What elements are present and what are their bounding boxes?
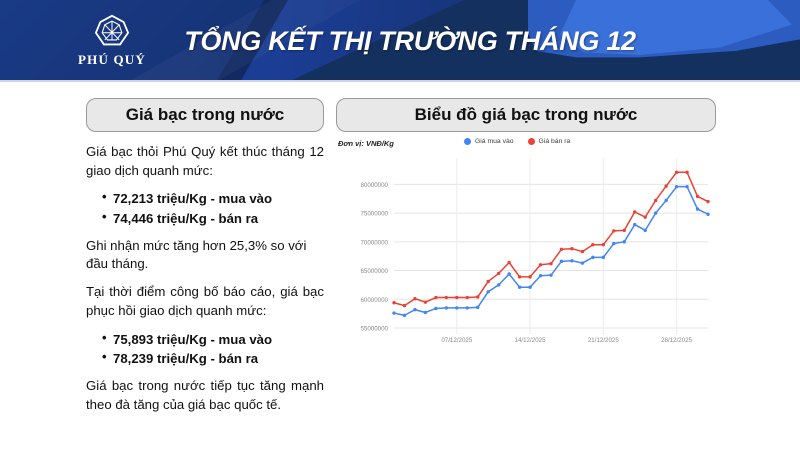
data-point (581, 261, 584, 264)
data-point (507, 272, 510, 275)
left-summary-panel: Giá bạc trong nước Giá bạc thỏi Phú Quý … (86, 98, 324, 423)
data-point (685, 185, 688, 188)
ytick-label: 60000000 (360, 297, 388, 304)
chart-legend: Giá mua vào Giá bán ra (464, 138, 570, 145)
list-item: 75,893 triệu/Kg - mua vào (102, 330, 324, 349)
data-point (518, 286, 521, 289)
left-panel-heading: Giá bạc trong nước (86, 98, 324, 132)
brand-logo: PHÚ QUÝ (58, 10, 166, 72)
legend-swatch-buy-icon (464, 138, 471, 145)
legend-label-sell: Giá bán ra (539, 138, 571, 145)
data-point (612, 229, 615, 232)
data-point (476, 306, 479, 309)
data-point (539, 274, 542, 277)
data-point (675, 171, 678, 174)
xtick-label: 07/12/2025 (441, 337, 473, 344)
data-point (497, 272, 500, 275)
data-point (623, 240, 626, 243)
data-point (581, 250, 584, 253)
data-point (539, 263, 542, 266)
header-banner: PHÚ QUÝ TỔNG KẾT THỊ TRƯỜNG THÁNG 12 (0, 0, 800, 82)
data-point (654, 211, 657, 214)
data-point (434, 307, 437, 310)
chart-xtick-labels: 07/12/202514/12/202521/12/202528/12/2025 (441, 337, 692, 344)
data-point (413, 297, 416, 300)
phu-quy-diamond-logo-icon (94, 14, 130, 48)
data-point (623, 229, 626, 232)
data-point (392, 311, 395, 314)
data-point (644, 215, 647, 218)
data-point (466, 296, 469, 299)
chart-plot-area: 5500000060000000650000007000000075000000… (336, 156, 716, 356)
data-point (403, 314, 406, 317)
bullet-list-report-prices: 75,893 triệu/Kg - mua vào 78,239 triệu/K… (86, 330, 324, 368)
ytick-label: 70000000 (360, 239, 388, 246)
data-point (675, 185, 678, 188)
legend-item-buy[interactable]: Giá mua vào (464, 138, 514, 145)
data-point (507, 261, 510, 264)
data-point (403, 304, 406, 307)
data-point (664, 184, 667, 187)
data-point (455, 306, 458, 309)
data-point (685, 171, 688, 174)
legend-label-buy: Giá mua vào (475, 138, 514, 145)
list-item: 72,213 triệu/Kg - mua vào (102, 189, 324, 208)
chart-panel-heading: Biểu đồ giá bạc trong nước (336, 98, 716, 132)
list-item: 74,446 triệu/Kg - bán ra (102, 209, 324, 228)
slide-root: PHÚ QUÝ TỔNG KẾT THỊ TRƯỜNG THÁNG 12 Giá… (0, 0, 800, 450)
data-point (487, 290, 490, 293)
bullet-list-closing-prices: 72,213 triệu/Kg - mua vào 74,446 triệu/K… (86, 189, 324, 227)
line-chart-svg: 5500000060000000650000007000000075000000… (336, 156, 716, 356)
data-point (591, 256, 594, 259)
chart-ytick-labels: 5500000060000000650000007000000075000000… (360, 182, 388, 333)
data-point (549, 273, 552, 276)
data-point (654, 199, 657, 202)
ytick-label: 75000000 (360, 211, 388, 218)
left-panel-body: Giá bạc thỏi Phú Quý kết thúc tháng 12 g… (86, 143, 324, 414)
data-point (591, 243, 594, 246)
series-line-sell (392, 171, 709, 308)
data-point (602, 256, 605, 259)
paragraph-4: Giá bạc trong nước tiếp tục tăng mạnh th… (86, 377, 324, 414)
data-point (466, 306, 469, 309)
list-item: 78,239 triệu/Kg - bán ra (102, 349, 324, 368)
data-point (633, 210, 636, 213)
ytick-label: 65000000 (360, 268, 388, 275)
legend-swatch-sell-icon (528, 138, 535, 145)
paragraph-1: Giá bạc thỏi Phú Quý kết thúc tháng 12 g… (86, 143, 324, 180)
data-point (644, 229, 647, 232)
data-point (706, 200, 709, 203)
chart-unit-label: Đơn vị: VNĐ/Kg (338, 139, 394, 148)
data-point (612, 242, 615, 245)
data-point (455, 296, 458, 299)
data-point (602, 243, 605, 246)
data-point (392, 301, 395, 304)
data-point (497, 283, 500, 286)
brand-name: PHÚ QUÝ (78, 52, 146, 68)
data-point (445, 306, 448, 309)
data-point (528, 286, 531, 289)
data-point (560, 248, 563, 251)
page-title: TỔNG KẾT THỊ TRƯỜNG THÁNG 12 (175, 0, 645, 82)
ytick-label: 55000000 (360, 326, 388, 333)
data-point (706, 213, 709, 216)
xtick-label: 28/12/2025 (661, 337, 693, 344)
data-point (476, 295, 479, 298)
data-point (518, 275, 521, 278)
data-point (570, 247, 573, 250)
paragraph-2: Ghi nhận mức tăng hơn 25,3% so với đầu t… (86, 237, 324, 274)
data-point (570, 259, 573, 262)
data-point (549, 262, 552, 265)
data-point (696, 207, 699, 210)
chart-panel: Biểu đồ giá bạc trong nước Đơn vị: VNĐ/K… (336, 98, 716, 356)
data-point (434, 296, 437, 299)
data-point (633, 223, 636, 226)
legend-item-sell[interactable]: Giá bán ra (528, 138, 571, 145)
data-point (424, 300, 427, 303)
xtick-label: 14/12/2025 (515, 337, 547, 344)
data-point (664, 199, 667, 202)
paragraph-3: Tại thời điểm công bố báo cáo, giá bạc p… (86, 283, 324, 320)
data-point (560, 260, 563, 263)
chart-subheader: Đơn vị: VNĐ/Kg Giá mua vào Giá bán ra (336, 136, 716, 156)
data-point (445, 296, 448, 299)
data-point (696, 195, 699, 198)
ytick-label: 80000000 (360, 182, 388, 189)
data-point (528, 275, 531, 278)
xtick-label: 21/12/2025 (588, 337, 620, 344)
data-point (487, 280, 490, 283)
data-point (413, 308, 416, 311)
data-point (424, 311, 427, 314)
